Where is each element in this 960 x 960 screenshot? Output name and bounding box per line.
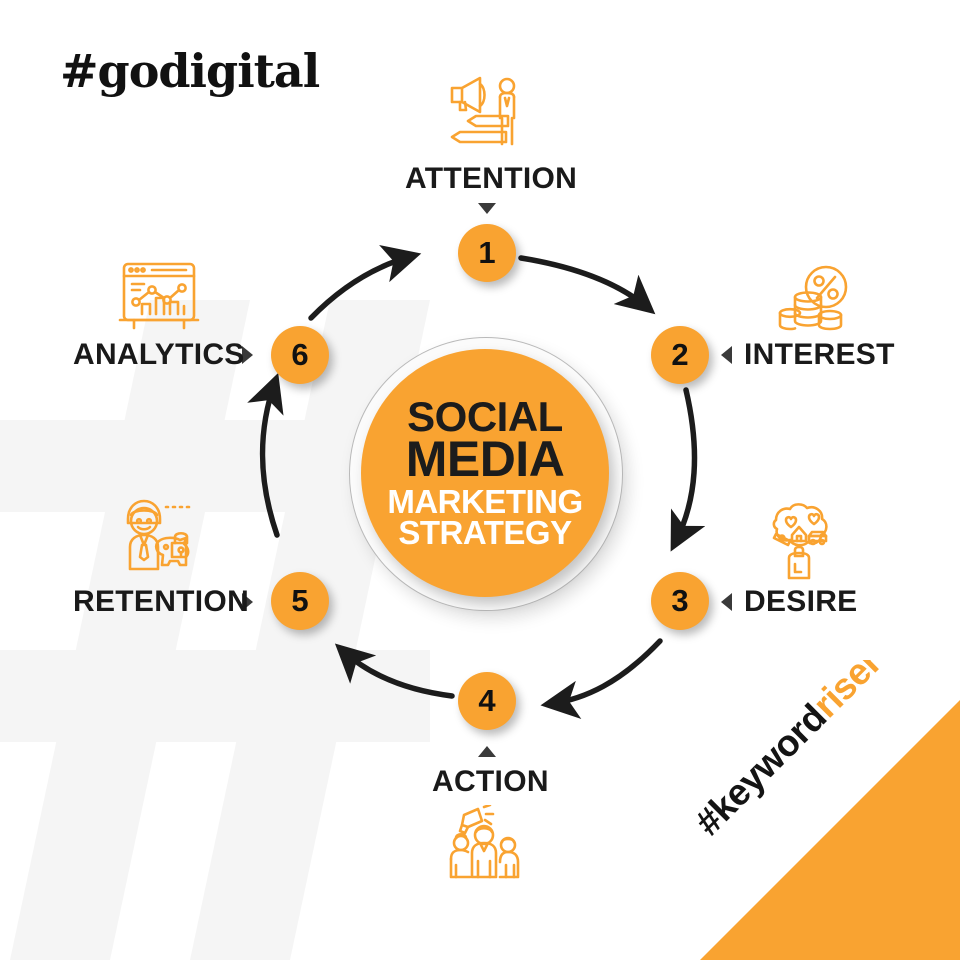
step-label-desire: DESIRE <box>744 585 858 619</box>
step-label-analytics: ANALYTICS <box>73 338 245 372</box>
pointer-triangle-attention <box>478 203 496 214</box>
person-piggybank-lock-icon <box>116 497 202 578</box>
infographic-canvas: #godigital SOCIAL MEDIA MARKETING STRATE… <box>0 0 960 960</box>
pointer-triangle-interest <box>721 346 732 364</box>
thought-cloud-wishes-icon <box>762 500 836 585</box>
step-label-attention: ATTENTION <box>405 162 577 196</box>
step-label-interest: INTEREST <box>744 338 895 372</box>
step-node-4[interactable]: 4 <box>458 672 516 730</box>
megaphone-person-icon <box>446 72 532 157</box>
coins-percent-icon <box>778 265 854 342</box>
people-megaphone-icon <box>440 805 530 884</box>
step-label-retention: RETENTION <box>73 585 249 619</box>
arrow-6-to-1 <box>311 256 412 318</box>
brand-logo: #godigital <box>60 48 319 94</box>
dashboard-chart-icon <box>118 258 200 341</box>
step-node-5[interactable]: 5 <box>271 572 329 630</box>
step-node-3[interactable]: 3 <box>651 572 709 630</box>
corner-ribbon: #keywordriser <box>660 660 960 960</box>
corner-triangle <box>700 700 960 960</box>
arrow-3-to-4 <box>550 641 660 704</box>
pointer-triangle-desire <box>721 593 732 611</box>
step-node-2[interactable]: 2 <box>651 326 709 384</box>
arrow-2-to-3 <box>675 390 695 543</box>
arrow-4-to-5 <box>342 650 452 696</box>
step-label-action: ACTION <box>432 765 549 799</box>
step-node-6[interactable]: 6 <box>271 326 329 384</box>
arrow-1-to-2 <box>521 258 648 308</box>
arrow-5-to-6 <box>262 382 277 535</box>
step-node-1[interactable]: 1 <box>458 224 516 282</box>
pointer-triangle-action <box>478 746 496 757</box>
